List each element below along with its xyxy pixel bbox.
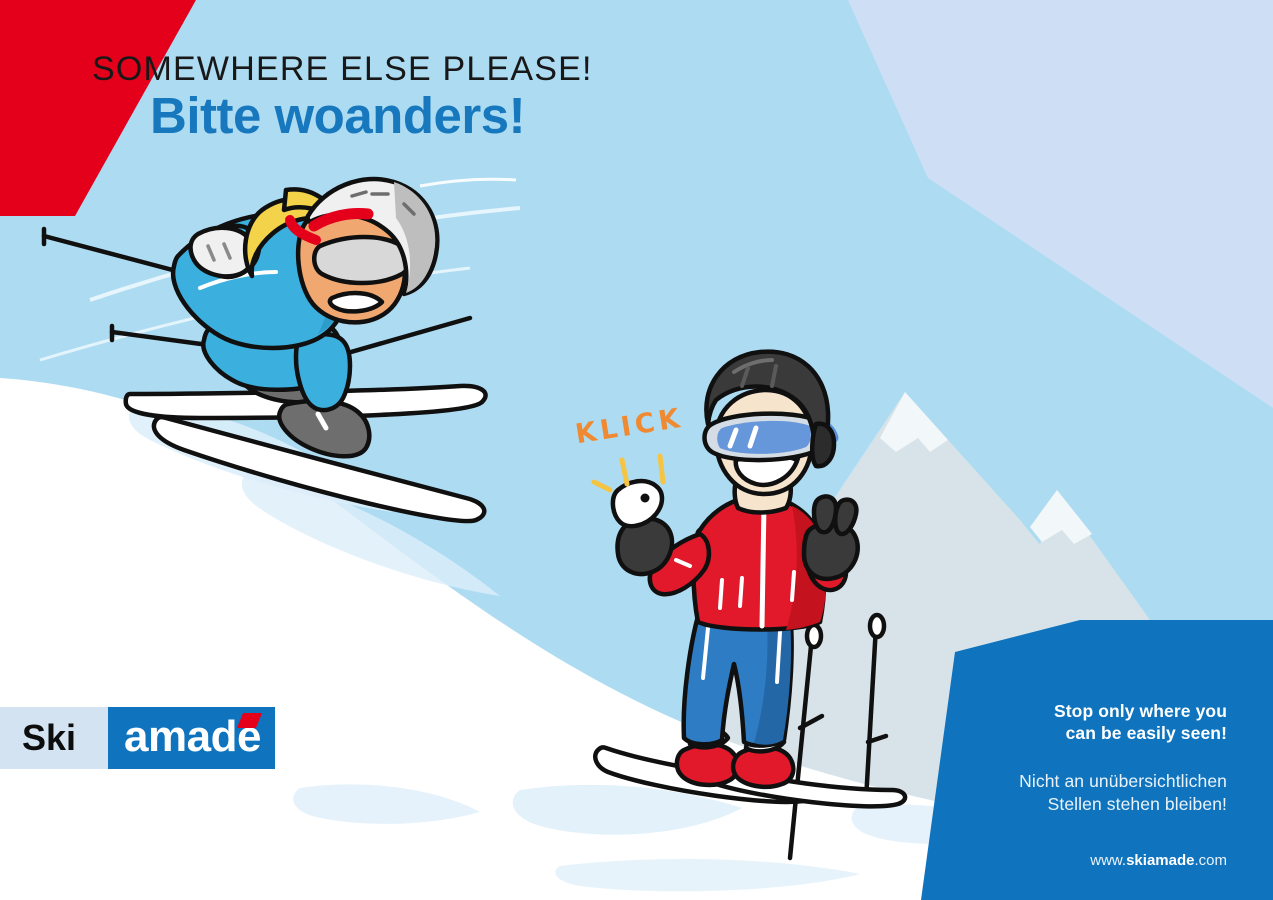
headline-german: Bitte woanders! bbox=[92, 90, 593, 141]
spark-line-3 bbox=[594, 482, 610, 490]
ski-amade-logo[interactable]: Ski amadé bbox=[0, 707, 275, 769]
spark-line-1 bbox=[622, 460, 627, 484]
logo-amade-block: amadé bbox=[108, 707, 275, 769]
logo-ski-word: Ski bbox=[22, 717, 76, 759]
poster-canvas: SOMEWHERE ELSE PLEASE! Bitte woanders! K… bbox=[0, 0, 1273, 900]
spark-line-2 bbox=[660, 456, 663, 482]
headline-english: SOMEWHERE ELSE PLEASE! bbox=[92, 52, 593, 86]
headline-block: SOMEWHERE ELSE PLEASE! Bitte woanders! bbox=[92, 52, 593, 141]
logo-ski-block: Ski bbox=[0, 707, 108, 769]
